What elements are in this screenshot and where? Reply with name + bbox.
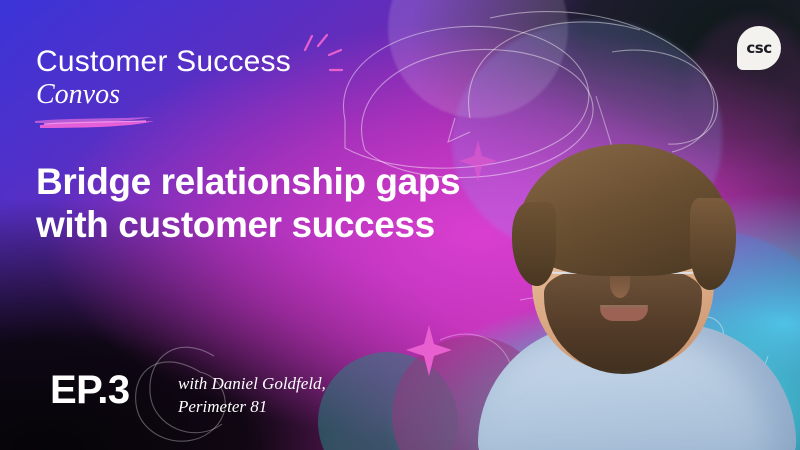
- background-blob: [388, 0, 568, 118]
- glasses-icon: [538, 236, 710, 276]
- guest-credit: with Daniel Goldfeld, Perimeter 81: [178, 372, 368, 419]
- sparkle-burst-icon: [305, 35, 342, 70]
- show-title-line-1: Customer Success: [36, 46, 291, 78]
- four-point-star-icon: [406, 325, 452, 376]
- background-blob: [560, 230, 800, 450]
- background-blob: [392, 336, 552, 450]
- podcast-cover-art: csc Customer Success Convos Bridge relat…: [0, 0, 800, 450]
- show-title-line-2: Convos: [36, 80, 291, 111]
- csc-logo-text: csc: [746, 39, 771, 57]
- brush-stroke-underline-icon: [34, 116, 156, 132]
- page-title: Bridge relationship gaps with customer s…: [36, 160, 466, 247]
- csc-logo: csc: [737, 26, 781, 70]
- background-blob: [452, 20, 722, 255]
- show-title: Customer Success Convos: [36, 46, 291, 111]
- episode-number: EP.3: [50, 368, 130, 413]
- guest-photo: [470, 118, 800, 450]
